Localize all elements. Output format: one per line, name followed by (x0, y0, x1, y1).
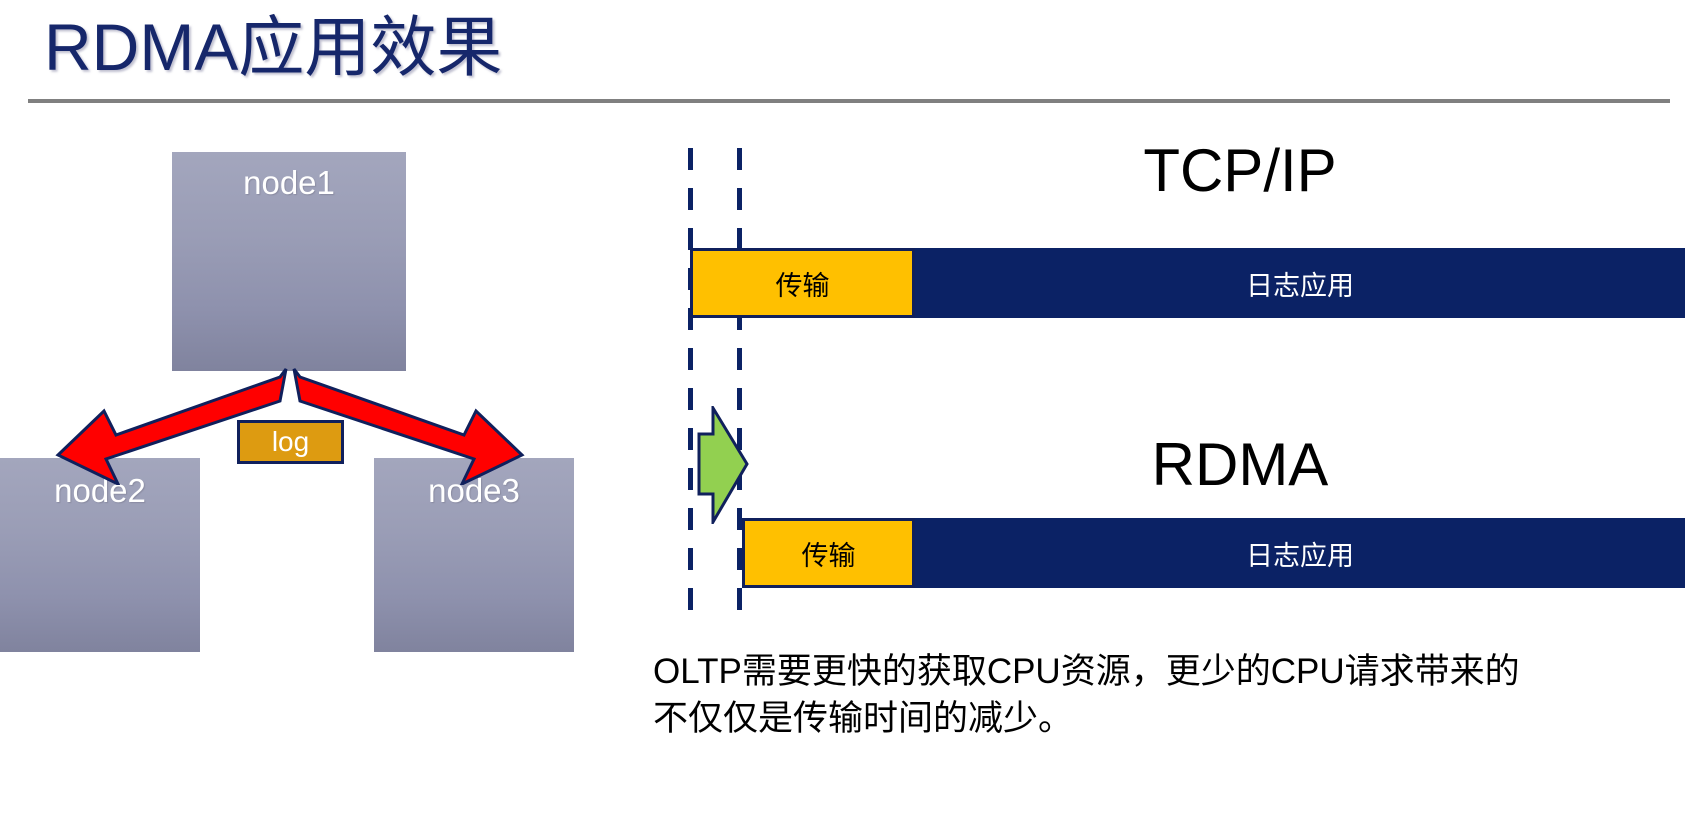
page-title: RDMA应用效果 (44, 4, 502, 90)
bar-segment-transfer: 传输 (742, 518, 915, 588)
green-right-arrow-icon (699, 408, 747, 522)
log-box-label: log (272, 426, 309, 458)
protocol-label-tcpip: TCP/IP (930, 136, 1550, 205)
slide-canvas: RDMA应用效果 node1 node2 node3 log TCP/IP 传输… (0, 0, 1696, 826)
node-label: node3 (428, 472, 520, 652)
baseline-dashed-line-left (688, 148, 693, 620)
timeline-bar-tcpip: 传输 日志应用 (690, 248, 1685, 318)
node-box-node1: node1 (172, 152, 406, 371)
node-label: node2 (54, 472, 146, 652)
node-box-node2: node2 (0, 458, 200, 652)
improvement-arrow (697, 406, 749, 524)
node-label: node1 (243, 164, 335, 371)
title-divider (28, 99, 1670, 103)
bar-segment-log-application: 日志应用 (915, 248, 1685, 318)
timeline-bar-rdma: 传输 日志应用 (742, 518, 1685, 588)
bar-segment-transfer: 传输 (690, 248, 915, 318)
caption-text: OLTP需要更快的获取CPU资源，更少的CPU请求带来的不仅仅是传输时间的减少。 (653, 648, 1553, 742)
bar-segment-log-application: 日志应用 (915, 518, 1685, 588)
node-box-node3: node3 (374, 458, 574, 652)
log-box: log (237, 420, 344, 464)
protocol-label-rdma: RDMA (930, 430, 1550, 499)
